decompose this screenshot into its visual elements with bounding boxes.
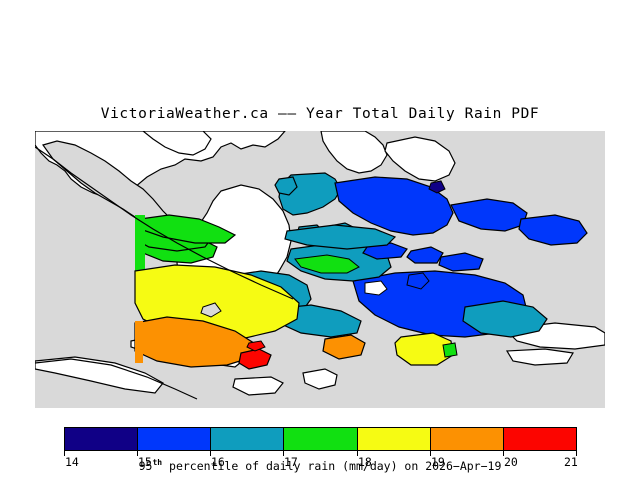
colorbar: 14 15 16 17 18 19 20 21 (64, 427, 577, 451)
map-canvas (35, 131, 605, 408)
colorbar-segment-16-17[interactable] (211, 428, 284, 450)
page-title: VictoriaWeather.ca —— Year Total Daily R… (0, 106, 640, 122)
caption-prefix: 95 (139, 459, 153, 473)
colorbar-segment-19-20[interactable] (431, 428, 504, 450)
region-left-orange-strip (135, 321, 143, 363)
colorbar-segment-20-21[interactable] (504, 428, 576, 450)
colorbar-segment-15-16[interactable] (138, 428, 211, 450)
colorbar-segment-14-15[interactable] (65, 428, 138, 450)
colorbar-segments[interactable] (64, 427, 577, 451)
colorbar-segment-17-18[interactable] (284, 428, 357, 450)
caption-superscript: th (152, 458, 162, 467)
caption-rest: percentile of daily rain (mm/day) on 202… (162, 459, 501, 473)
weather-map-page: VictoriaWeather.ca —— Year Total Daily R… (0, 0, 640, 480)
map-graphic (35, 131, 605, 408)
colorbar-caption: 95th percentile of daily rain (mm/day) o… (0, 459, 640, 473)
region-yellow-islet-green-edge (443, 343, 457, 357)
colorbar-segment-18-19[interactable] (358, 428, 431, 450)
